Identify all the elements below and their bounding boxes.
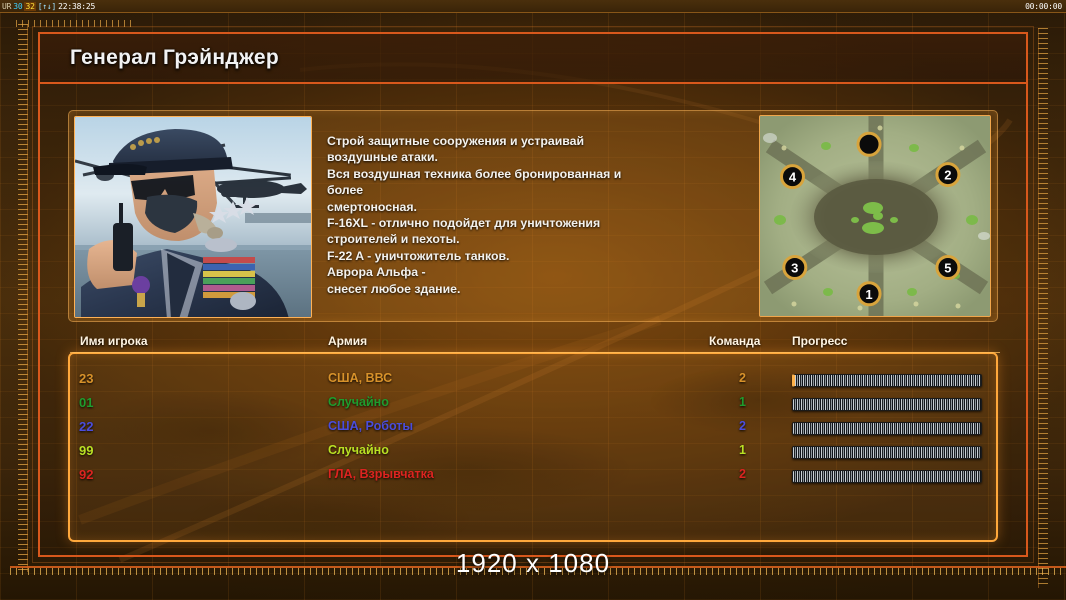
player-list-header: Имя игрока Армия Команда Прогресс: [70, 332, 1000, 353]
player-army[interactable]: Случайно: [328, 395, 389, 409]
map-preview: 42351: [759, 115, 991, 317]
general-portrait: [74, 116, 312, 318]
column-header-team: Команда: [709, 334, 760, 348]
player-army[interactable]: США, Роботы: [328, 419, 413, 433]
ruler-rail-top: [16, 20, 136, 27]
general-info-panel: Строй защитные сооружения и устраивай во…: [68, 110, 998, 322]
map-start-position[interactable]: [858, 133, 880, 155]
player-team[interactable]: 2: [739, 467, 746, 481]
status-bracket: [↑↓]: [38, 2, 56, 11]
status-clock: 00:00:00: [1025, 2, 1062, 11]
player-team[interactable]: 2: [739, 419, 746, 433]
player-progress-bar: [792, 446, 982, 459]
status-bar: UR 30 32 [↑↓] 22:38:25 00:00:00: [0, 0, 1066, 13]
map-start-position-label: 4: [789, 170, 797, 185]
page-title: Генерал Грэйнджер: [70, 46, 279, 70]
map-start-position-label: 3: [791, 261, 798, 276]
player-army[interactable]: США, ВВС: [328, 371, 392, 385]
ruler-rail-right: [1038, 28, 1048, 588]
player-army[interactable]: ГЛА, Взрывчатка: [328, 467, 434, 481]
player-name: 22: [79, 419, 93, 434]
column-header-name: Имя игрока: [80, 334, 148, 348]
status-value-2: 32: [24, 2, 35, 11]
player-progress-bar: [792, 374, 982, 387]
player-army[interactable]: Случайно: [328, 443, 389, 457]
player-progress-bar: [792, 398, 982, 411]
main-panel: Генерал Грэйнджер: [38, 32, 1028, 557]
player-name: 92: [79, 467, 93, 482]
ruler-rail-left: [18, 24, 28, 572]
player-row[interactable]: 92ГЛА, Взрывчатка2: [70, 464, 1000, 488]
panel-header: Генерал Грэйнджер: [40, 34, 1026, 84]
status-bar-left: UR 30 32 [↑↓] 22:38:25: [2, 2, 95, 11]
game-lobby-screen: UR 30 32 [↑↓] 22:38:25 00:00:00 Генерал …: [0, 0, 1066, 600]
column-header-army: Армия: [328, 334, 367, 348]
player-name: 23: [79, 371, 93, 386]
player-row[interactable]: 22США, Роботы2: [70, 416, 1000, 440]
map-start-position-label: 2: [944, 168, 951, 183]
player-progress-bar: [792, 422, 982, 435]
general-description: Строй защитные сооружения и устраивай во…: [327, 133, 757, 297]
player-name: 99: [79, 443, 93, 458]
column-header-progress: Прогресс: [792, 334, 847, 348]
player-row[interactable]: 01Случайно1: [70, 392, 1000, 416]
player-name: 01: [79, 395, 93, 410]
player-team[interactable]: 1: [739, 395, 746, 409]
map-start-position-label: 5: [944, 261, 951, 276]
status-session-time: 22:38:25: [58, 2, 95, 11]
status-label: UR: [2, 2, 11, 11]
player-list-panel: Имя игрока Армия Команда Прогресс 23США,…: [68, 352, 998, 542]
status-value-1: 30: [13, 2, 22, 11]
map-start-position-label: 1: [865, 287, 872, 302]
player-row[interactable]: 23США, ВВС2: [70, 368, 1000, 392]
player-team[interactable]: 1: [739, 443, 746, 457]
resolution-caption: 1920 x 1080: [0, 548, 1066, 579]
player-progress-bar: [792, 470, 982, 483]
player-row[interactable]: 99Случайно1: [70, 440, 1000, 464]
player-team[interactable]: 2: [739, 371, 746, 385]
